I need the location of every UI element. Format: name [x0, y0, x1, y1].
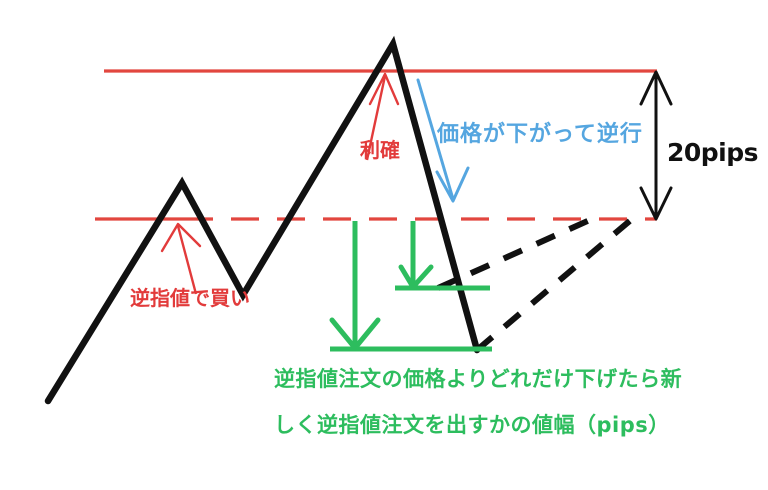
take-profit-label: 利確: [360, 140, 400, 160]
projection-lines: [438, 219, 632, 350]
chart-canvas: 利確 価格が下がって逆行 逆指値で買い 20pips 逆指値注文の価格よりどれだ…: [0, 0, 768, 490]
red-annotation-arrows: [162, 74, 398, 294]
trail-gap-arrow-short-head: [401, 267, 431, 287]
buy-stop-order-label: 逆指値で買い: [130, 288, 250, 308]
projection-upper-dashed: [438, 219, 592, 288]
trail-gap-arrows: [332, 221, 431, 348]
trail-caption-line-1: 逆指値注文の価格よりどれだけ下げたら新: [274, 369, 682, 390]
pips-range-label: 20pips: [667, 140, 758, 165]
price-falls-reverse-label: 価格が下がって逆行: [437, 124, 643, 146]
buy-stop-arrow-shaft: [178, 226, 196, 294]
trail-caption-line-2: しく逆指値注文を出すかの値幅（pips）: [274, 415, 670, 436]
